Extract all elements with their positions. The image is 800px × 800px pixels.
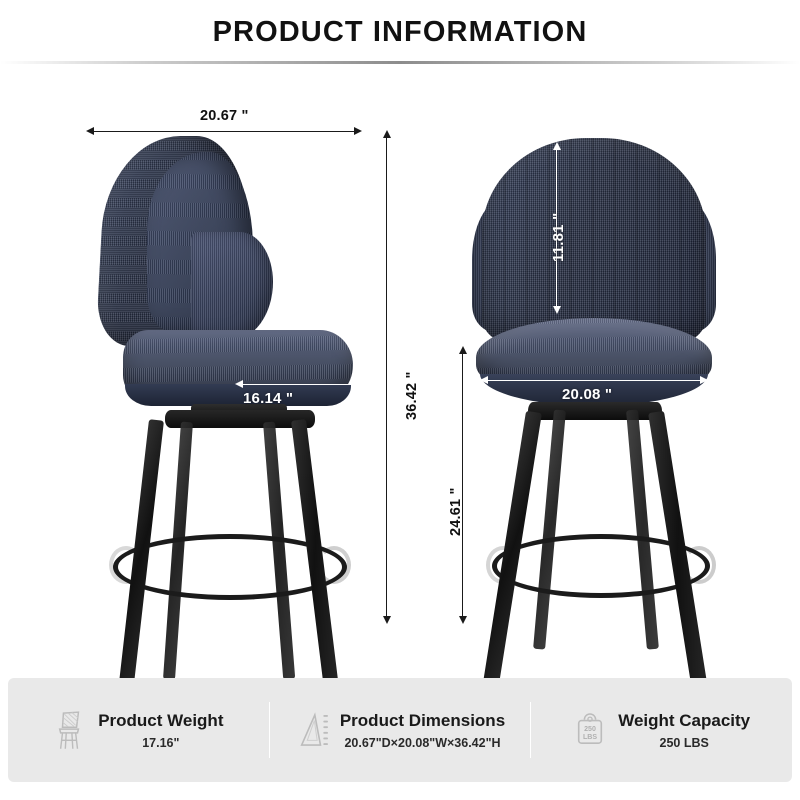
overall-depth-label: 20.67 ": [200, 108, 249, 124]
seat-width-arrow-left: [480, 376, 488, 384]
product-information-page: PRODUCT INFORMATION 16.: [0, 0, 800, 800]
front-backrest: [482, 138, 706, 343]
spec-product-dimensions-title: Product Dimensions: [340, 710, 505, 731]
seat-height-arrow-bottom: [459, 616, 467, 624]
weight-tag-badge-line1: 250: [584, 726, 596, 733]
backrest-height-label: 11.81 ": [550, 213, 567, 262]
overall-depth-arrow-right: [354, 127, 362, 135]
spec-weight-capacity: 250 LBS Weight Capacity 250 LBS: [531, 678, 792, 782]
seat-width-label: 20.08 ": [562, 386, 612, 403]
spec-product-dimensions: Product Dimensions 20.67"D×20.08"W×36.42…: [270, 678, 531, 782]
dimension-diagram: 16.14 " 11.81 ": [0, 62, 800, 660]
page-title: PRODUCT INFORMATION: [0, 16, 800, 49]
page-header: PRODUCT INFORMATION: [0, 0, 800, 62]
seat-width-line: [486, 380, 702, 381]
spec-product-weight-title: Product Weight: [98, 710, 223, 731]
barstool-icon: [53, 708, 87, 752]
product-spec-bar: Product Weight 17.16" Product Dimensions…: [8, 678, 792, 782]
weight-tag-badge-line2: LBS: [583, 734, 597, 741]
triangle-ruler-icon: [295, 708, 329, 752]
overall-height-label: 36.42 ": [404, 371, 420, 420]
overall-height-arrow-top: [383, 130, 391, 138]
spec-product-dimensions-value: 20.67"D×20.08"W×36.42"H: [344, 736, 500, 750]
seat-depth-arrow-right: [355, 380, 363, 388]
spec-product-weight-value: 17.16": [142, 736, 179, 750]
backrest-height-arrow-top: [553, 142, 561, 150]
overall-depth-line: [92, 131, 360, 132]
spec-weight-capacity-text: Weight Capacity 250 LBS: [618, 710, 750, 749]
overall-depth-arrow-left: [86, 127, 94, 135]
side-view-barstool: 16.14 ": [95, 122, 360, 682]
spec-product-weight: Product Weight 17.16": [8, 678, 269, 782]
front-view-barstool: 11.81 " 20.08 ": [470, 122, 720, 682]
seat-depth-arrow-left: [235, 380, 243, 388]
overall-height-line: [386, 138, 387, 622]
spec-weight-capacity-value: 250 LBS: [660, 736, 709, 750]
seat-depth-label: 16.14 ": [243, 390, 293, 407]
spec-product-weight-text: Product Weight 17.16": [98, 710, 223, 749]
seat-depth-line: [241, 384, 357, 385]
side-armrest: [191, 232, 273, 340]
backrest-height-arrow-bottom: [553, 306, 561, 314]
seat-height-arrow-top: [459, 346, 467, 354]
weight-tag-icon: 250 LBS: [573, 708, 607, 752]
overall-height-arrow-bottom: [383, 616, 391, 624]
seat-width-arrow-right: [700, 376, 708, 384]
seat-height-label: 24.61 ": [448, 487, 464, 536]
front-leg-hub: [528, 402, 662, 420]
spec-product-dimensions-text: Product Dimensions 20.67"D×20.08"W×36.42…: [340, 710, 505, 749]
front-leg-rear-left: [533, 409, 566, 649]
spec-weight-capacity-title: Weight Capacity: [618, 710, 750, 731]
